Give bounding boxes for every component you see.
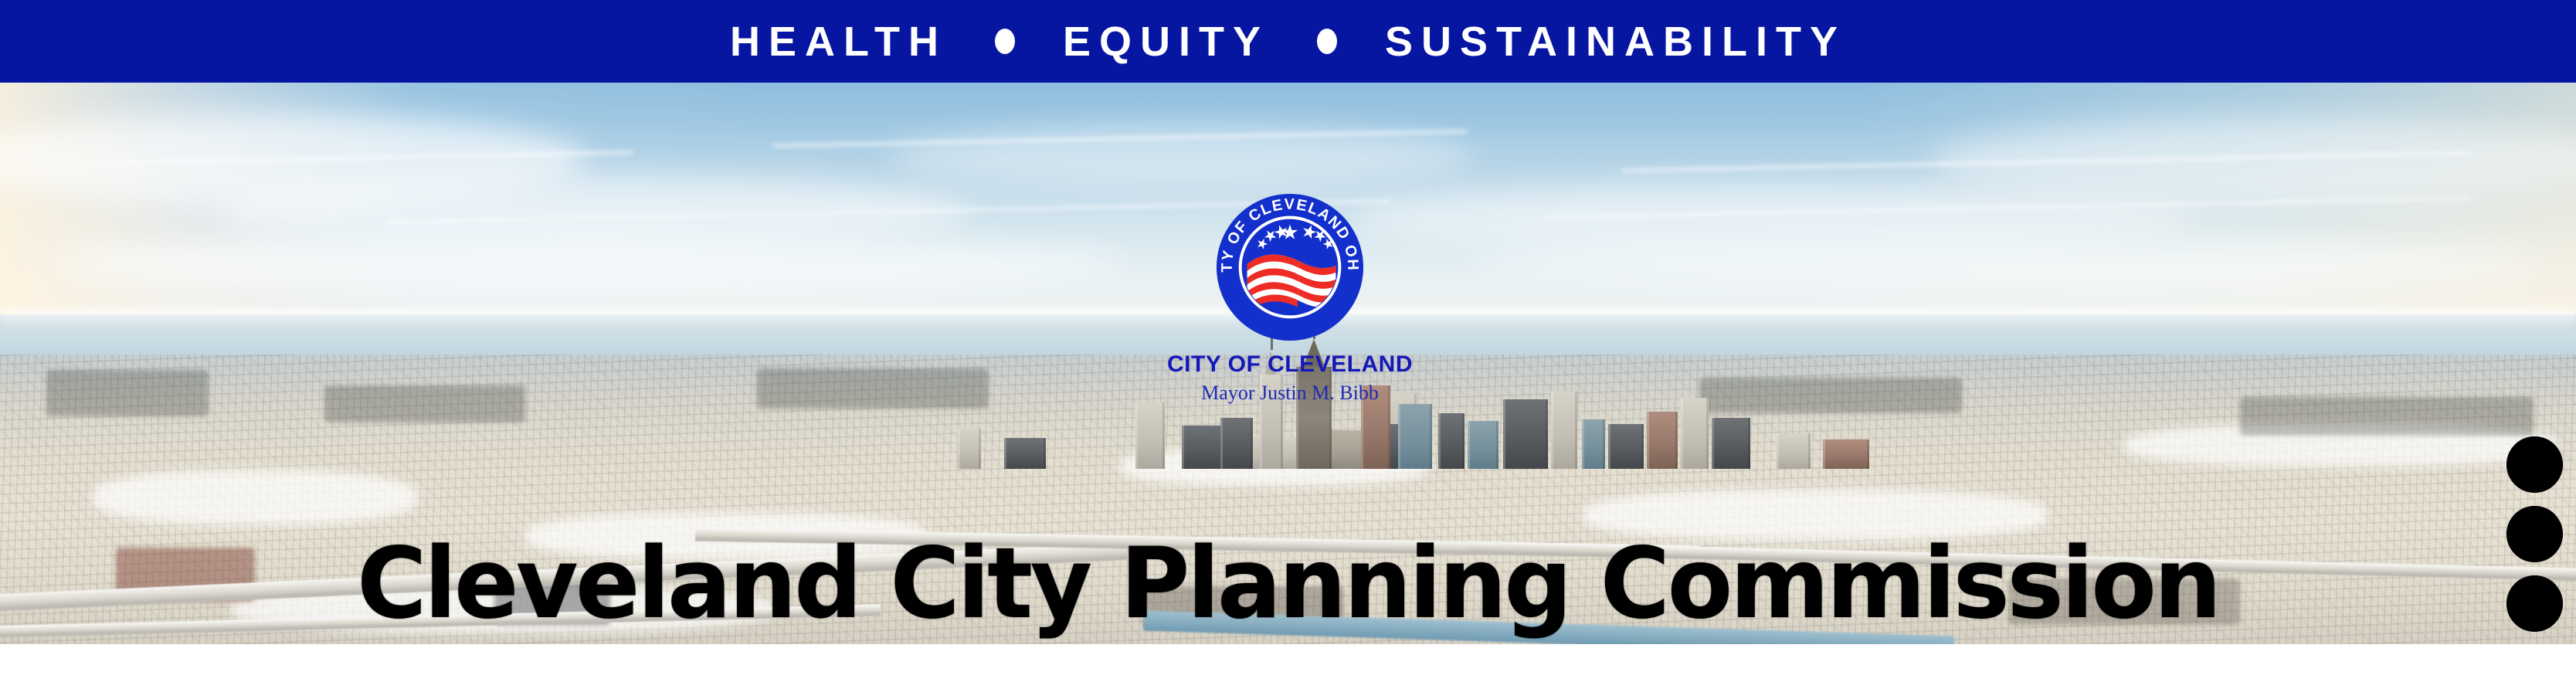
skyline-building (1468, 421, 1498, 469)
city-logo-block: CITY OF CLEVELAND OHIO (1162, 191, 1417, 407)
skyline-building (1398, 404, 1432, 469)
instagram-icon[interactable] (2506, 506, 2563, 562)
cloud (1468, 241, 2549, 287)
skyline-building (1220, 418, 1253, 469)
cloud (46, 237, 1128, 291)
page-title: Cleveland City Planning Commission (39, 534, 2537, 633)
skyline-building (1681, 398, 1709, 469)
city-of-cleveland-ohio-seal: CITY OF CLEVELAND OHIO (1213, 191, 1366, 344)
city-logo-name: CITY OF CLEVELAND (1162, 353, 1417, 376)
tagline-word-equity: EQUITY (1063, 21, 1269, 63)
skyline-building (958, 429, 981, 469)
tagline-inner: HEALTH EQUITY SUSTAINABILITY (730, 21, 1846, 63)
bullet-dot-icon (995, 29, 1015, 54)
skyline-building (1503, 399, 1548, 469)
social-media-rail (2505, 436, 2564, 632)
city-logo-mayor: Mayor Justin M. Bibb (1162, 383, 1417, 403)
facebook-icon[interactable] (2506, 575, 2563, 632)
snow-patch (93, 470, 417, 524)
skyline-building (1582, 419, 1605, 469)
skyline-building (1135, 402, 1165, 469)
skyline-building (1004, 438, 1046, 469)
tagline-word-sustainability: SUSTAINABILITY (1385, 21, 1846, 63)
skyline-building (1551, 392, 1577, 469)
bullet-dot-icon (1317, 29, 1337, 54)
tagline-banner: HEALTH EQUITY SUSTAINABILITY (0, 0, 2576, 83)
tagline-word-health: HEALTH (730, 21, 947, 63)
skyline-building (1647, 412, 1678, 469)
skyline-building (1608, 424, 1644, 469)
bottom-white-strip (0, 644, 2576, 682)
youtube-icon[interactable] (2506, 436, 2563, 493)
skyline-building (1712, 418, 1750, 469)
skyline-building (1823, 439, 1869, 469)
hero-photo: CITY OF CLEVELAND OHIO (0, 83, 2576, 644)
skyline-building (1777, 433, 1811, 469)
skyline-building (1438, 413, 1464, 469)
